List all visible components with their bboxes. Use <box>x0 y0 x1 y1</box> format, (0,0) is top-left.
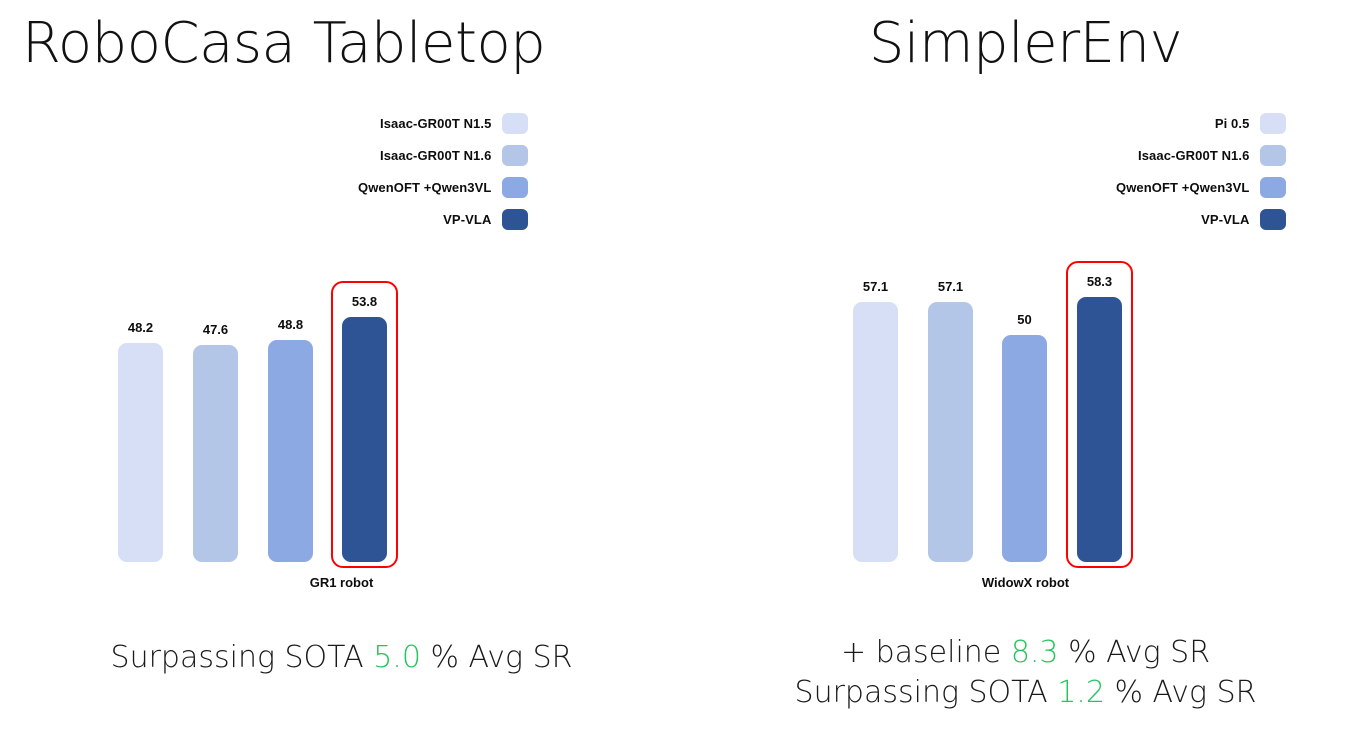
legend-item-label: Isaac-GR00T N1.6 <box>380 148 491 163</box>
bar-group: 57.157.15058.3 <box>684 280 1367 562</box>
caption-line: Surpassing SOTA 1.2 % Avg SR <box>684 673 1367 713</box>
legend-swatch-icon <box>1260 177 1286 198</box>
caption-robocasa: Surpassing SOTA 5.0 % Avg SR <box>0 638 683 678</box>
legend-swatch-icon <box>1260 113 1286 134</box>
legend-swatch-icon <box>502 113 528 134</box>
x-axis-label: WidowX robot <box>684 575 1367 590</box>
bar <box>1077 297 1122 562</box>
caption-simplerenv: + baseline 8.3 % Avg SRSurpassing SOTA 1… <box>684 633 1367 713</box>
legend-item-label: QwenOFT +Qwen3VL <box>1116 180 1249 195</box>
bar-slot: 57.1 <box>928 280 973 562</box>
legend-simplerenv: Pi 0.5 Isaac-GR00T N1.6 QwenOFT +Qwen3VL… <box>1116 113 1286 230</box>
bar-value-label: 58.3 <box>1063 274 1136 289</box>
legend-swatch-icon <box>502 145 528 166</box>
caption-text: Surpassing SOTA <box>111 640 374 675</box>
bar-group: 48.247.648.853.8 <box>0 280 683 562</box>
legend-item: QwenOFT +Qwen3VL <box>1116 177 1286 198</box>
bar-value-label: 53.8 <box>328 294 401 309</box>
bar-slot: 57.1 <box>853 280 898 562</box>
legend-item-label: VP-VLA <box>443 212 491 227</box>
caption-stat-value: 1.2 <box>1057 675 1105 710</box>
legend-item: QwenOFT +Qwen3VL <box>358 177 528 198</box>
legend-item-label: Pi 0.5 <box>1215 116 1250 131</box>
bar-slot: 58.3 <box>1077 280 1122 562</box>
plot-area-simplerenv: 57.157.15058.3 <box>684 280 1367 562</box>
legend-item: Isaac-GR00T N1.6 <box>1116 145 1286 166</box>
legend-item: VP-VLA <box>358 209 528 230</box>
bar <box>928 302 973 562</box>
legend-swatch-icon <box>1260 145 1286 166</box>
caption-stat-value: 8.3 <box>1011 635 1059 670</box>
bar <box>1002 335 1047 562</box>
legend-item-label: VP-VLA <box>1201 212 1249 227</box>
bar-slot: 50 <box>1002 280 1047 562</box>
legend-robocasa: Isaac-GR00T N1.5 Isaac-GR00T N1.6 QwenOF… <box>358 113 528 230</box>
legend-item: VP-VLA <box>1116 209 1286 230</box>
page-title-simplerenv: SimplerEnv <box>684 8 1367 80</box>
x-axis-label: GR1 robot <box>0 575 683 590</box>
chart-panel-robocasa: RoboCasa Tabletop Isaac-GR00T N1.5 Isaac… <box>0 0 683 740</box>
bar-value-label: 47.6 <box>179 322 252 337</box>
plot-area-robocasa: 48.247.648.853.8 <box>0 280 683 562</box>
chart-panel-simplerenv: SimplerEnv Pi 0.5 Isaac-GR00T N1.6 QwenO… <box>684 0 1367 740</box>
caption-text: % Avg SR <box>1105 675 1257 710</box>
caption-line: + baseline 8.3 % Avg SR <box>684 633 1367 673</box>
legend-item-label: Isaac-GR00T N1.6 <box>1138 148 1249 163</box>
bar-value-label: 48.8 <box>254 317 327 332</box>
bar-slot: 47.6 <box>193 280 238 562</box>
caption-stat-value: 5.0 <box>373 640 421 675</box>
legend-swatch-icon <box>1260 209 1286 230</box>
caption-text: % Avg SR <box>1059 635 1211 670</box>
bar-value-label: 50 <box>988 312 1061 327</box>
caption-line: Surpassing SOTA 5.0 % Avg SR <box>0 638 683 678</box>
bar-slot: 53.8 <box>342 280 387 562</box>
bar <box>193 345 238 562</box>
bar <box>118 343 163 562</box>
caption-text: Surpassing SOTA <box>795 675 1058 710</box>
caption-text: + baseline <box>841 635 1011 670</box>
caption-text: % Avg SR <box>421 640 573 675</box>
bar <box>342 317 387 562</box>
bar <box>853 302 898 562</box>
bar-slot: 48.8 <box>268 280 313 562</box>
bar-value-label: 57.1 <box>839 279 912 294</box>
legend-item: Pi 0.5 <box>1116 113 1286 134</box>
bar-value-label: 48.2 <box>104 320 177 335</box>
bar <box>268 340 313 562</box>
bar-value-label: 57.1 <box>914 279 987 294</box>
legend-item-label: QwenOFT +Qwen3VL <box>358 180 491 195</box>
page-title-robocasa: RoboCasa Tabletop <box>22 8 545 80</box>
legend-swatch-icon <box>502 177 528 198</box>
legend-swatch-icon <box>502 209 528 230</box>
legend-item: Isaac-GR00T N1.5 <box>358 113 528 134</box>
bar-slot: 48.2 <box>118 280 163 562</box>
legend-item: Isaac-GR00T N1.6 <box>358 145 528 166</box>
legend-item-label: Isaac-GR00T N1.5 <box>380 116 491 131</box>
